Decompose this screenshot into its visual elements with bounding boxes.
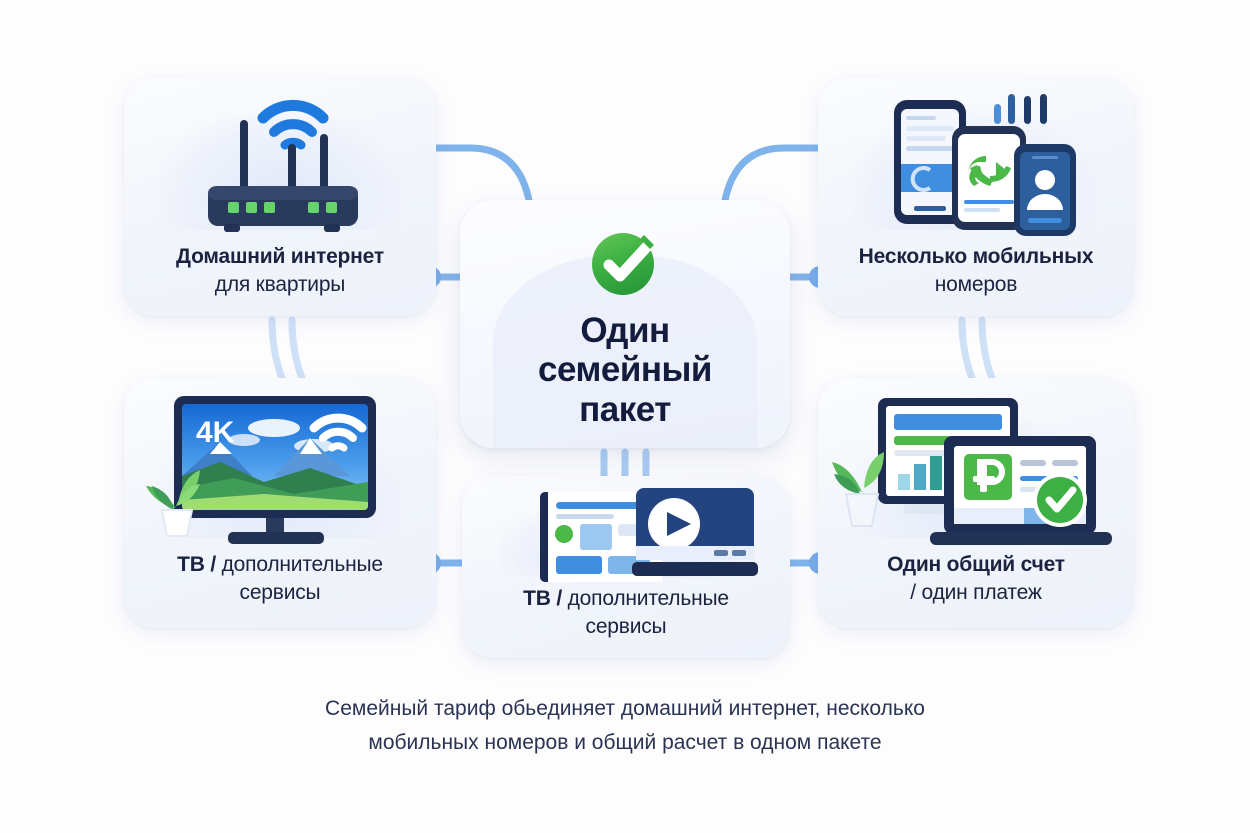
- monitor-green-bar: [894, 436, 952, 445]
- card-label-single-account: Один общий счет / один платеж: [818, 551, 1134, 628]
- connector-left-vertical-1: [272, 320, 282, 378]
- label-line-2: / один платеж: [828, 579, 1124, 606]
- label-line-1: ТВ / дополнительные: [134, 551, 426, 578]
- card-center-family-package[interactable]: Один семейный пакет: [460, 200, 790, 448]
- tv-stand-neck: [266, 518, 284, 534]
- connector-right-vertical-2: [982, 320, 992, 378]
- chart-bar-2: [914, 464, 926, 490]
- label-line-1: Один общий счет: [828, 551, 1124, 578]
- phones-illustration: [818, 78, 1134, 243]
- phone-front: [1014, 144, 1076, 236]
- center-title-line-3: пакет: [579, 390, 671, 429]
- antenna-left: [240, 120, 248, 190]
- green-check-circle-icon: [582, 219, 668, 305]
- label-bold: ТВ /: [177, 553, 222, 576]
- plant: [832, 452, 884, 526]
- tv-4k-badge: 4K: [196, 416, 235, 449]
- label-line-2: для квартиры: [134, 271, 426, 298]
- label-line-1: Несколько мобильных: [828, 243, 1124, 270]
- card-label-mobile-numbers: Несколько мобильных номеров: [818, 243, 1134, 316]
- card-tv-services-center[interactable]: ТВ / дополнительные сервисы: [462, 476, 790, 658]
- center-title-line-2: семейный: [538, 350, 712, 389]
- billing-illustration: [818, 378, 1134, 551]
- label-line-1: Домашний интернет: [134, 243, 426, 270]
- center-title: Один семейный пакет: [538, 311, 712, 429]
- connector-left-vertical-2: [292, 320, 302, 378]
- plant-pot: [162, 510, 192, 536]
- card-single-account[interactable]: Один общий счет / один платеж: [818, 378, 1134, 628]
- card-mobile-numbers[interactable]: Несколько мобильных номеров: [818, 78, 1134, 316]
- label-line-2: номеров: [828, 271, 1124, 298]
- infographic-canvas: .conn { fill:none; stroke:#7fb3ec; strok…: [0, 0, 1250, 833]
- label-line-2: сервисы: [134, 579, 426, 606]
- card-label-home-internet: Домашний интернет для квартиры: [124, 243, 436, 316]
- media-illustration: [462, 476, 790, 585]
- media-player: [632, 488, 758, 576]
- card-label-tv-center: ТВ / дополнительные сервисы: [462, 585, 790, 658]
- antenna-middle: [288, 144, 296, 190]
- router-illustration: [124, 78, 436, 243]
- green-dot: [555, 525, 573, 543]
- chart-bar-1: [898, 474, 910, 490]
- page-caption: Семейный тариф обьединяет домашний интер…: [0, 692, 1250, 760]
- signal-bars-icon: [994, 94, 1047, 124]
- center-title-line-1: Один: [580, 311, 669, 350]
- laptop-base: [930, 532, 1112, 545]
- check-badge-icon: [1033, 473, 1087, 527]
- page-caption-line-1: Семейный тариф обьединяет домашний интер…: [0, 692, 1250, 726]
- page-caption-line-2: мобильных номеров и общий расчет в одном…: [0, 726, 1250, 760]
- connector-right-vertical-1: [962, 320, 972, 378]
- card-label-tv-left: ТВ / дополнительные сервисы: [124, 551, 436, 628]
- label-regular: дополнительные: [222, 553, 383, 576]
- wifi-icon: [263, 105, 323, 145]
- tv-illustration: 4K: [124, 378, 436, 551]
- monitor-header-bar: [894, 414, 1002, 430]
- antenna-right: [320, 134, 328, 190]
- plant-pot: [846, 494, 878, 526]
- label-bold: ТВ /: [523, 587, 568, 610]
- chart-bar-3: [930, 456, 942, 490]
- label-line-2: сервисы: [472, 613, 780, 640]
- label-regular: дополнительные: [568, 587, 729, 610]
- avatar-head: [1035, 170, 1055, 190]
- card-tv-services-left[interactable]: 4K ТВ /: [124, 378, 436, 628]
- player-base: [632, 562, 758, 576]
- card-home-internet[interactable]: Домашний интернет для квартиры: [124, 78, 436, 316]
- tv-stand-base: [228, 532, 324, 544]
